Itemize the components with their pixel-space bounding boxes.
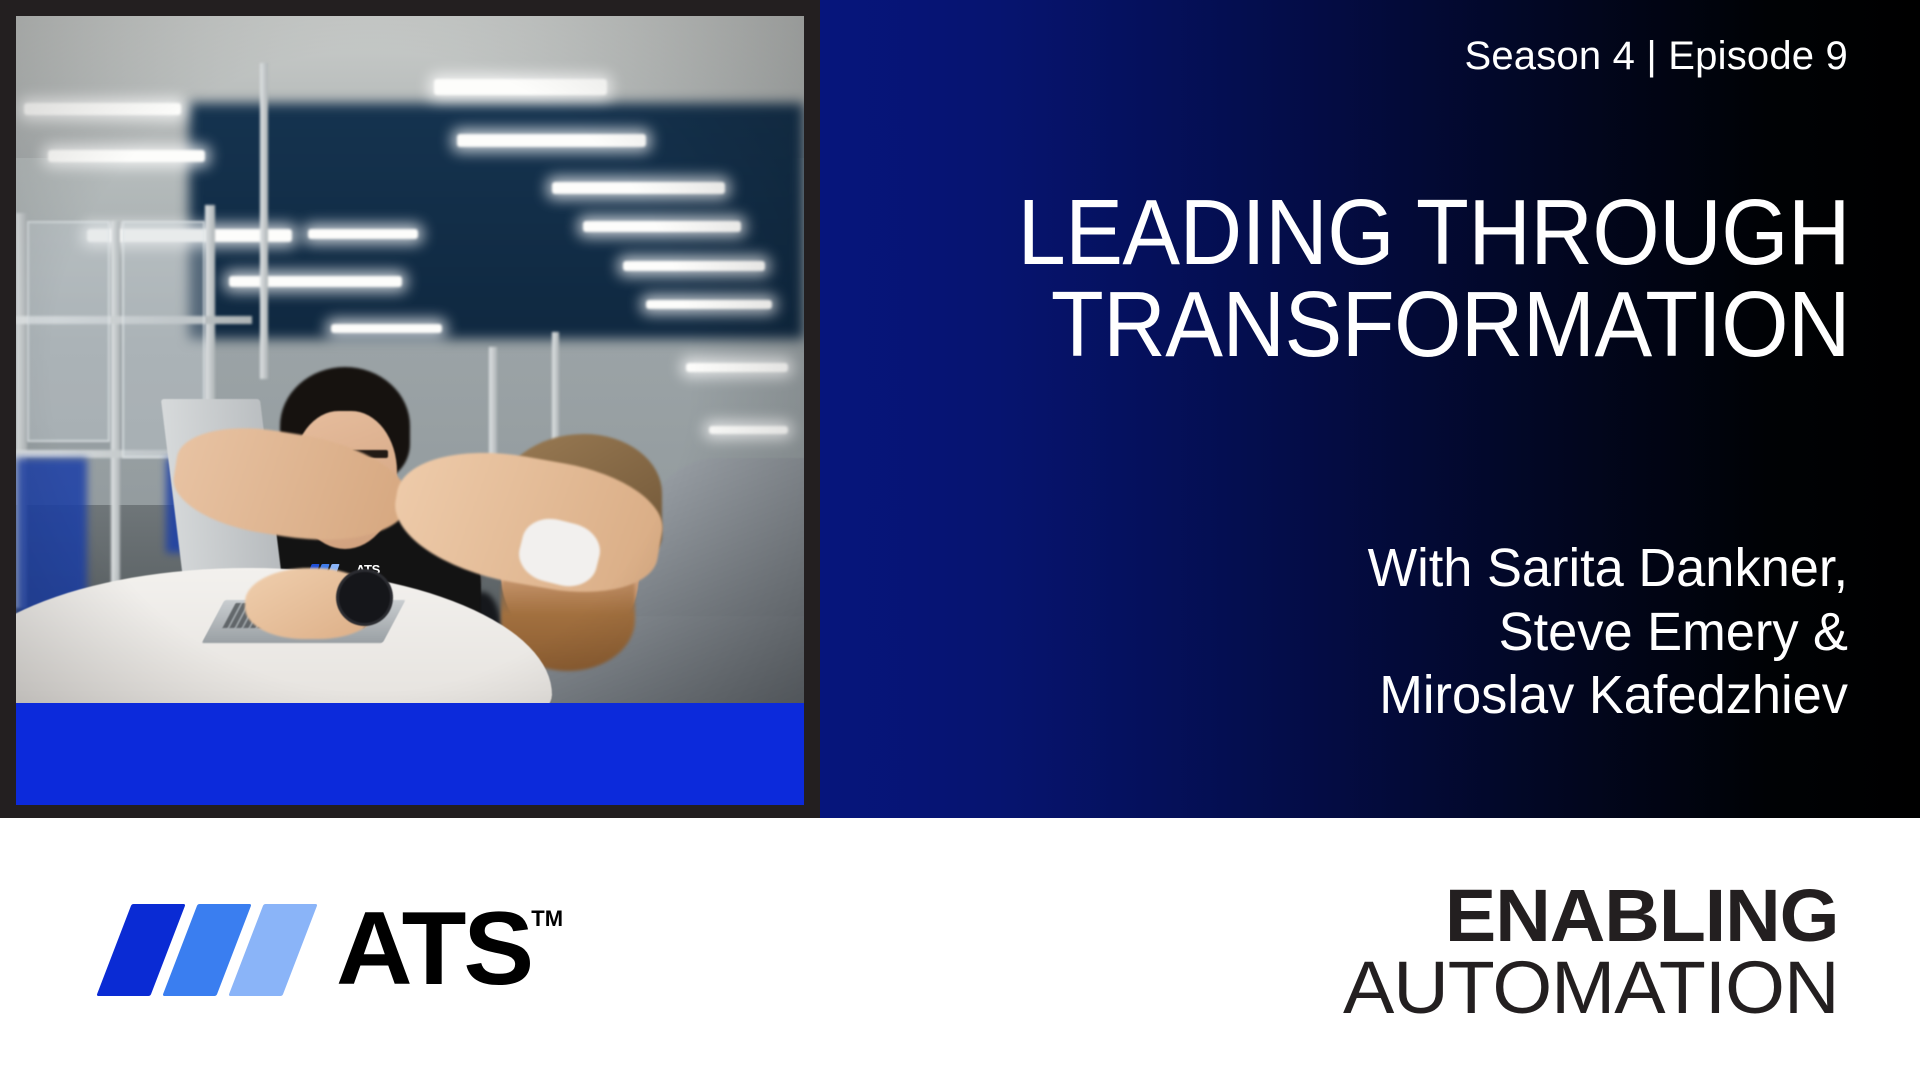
- episode-label: Season 4 | Episode 9: [1464, 34, 1848, 79]
- footer-bar: ATS TM ENABLING AUTOMATION: [0, 818, 1920, 1080]
- title-line-1: LEADING THROUGH: [920, 186, 1850, 278]
- photo-frame: ATS OPERATING SYSTEM: [0, 0, 820, 818]
- hosts-line-3: Miroslav Kafedzhiev: [975, 664, 1848, 728]
- program-logo-line-1: ENABLING: [1342, 880, 1838, 952]
- photo-vignette: [16, 16, 804, 805]
- photo-scene: ATS OPERATING SYSTEM: [16, 16, 804, 805]
- podcast-title-card: ATS OPERATING SYSTEM: [0, 0, 1920, 1080]
- hosts-line-1: With Sarita Dankner,: [975, 537, 1848, 601]
- enabling-automation-logo: ENABLING AUTOMATION: [1362, 880, 1839, 1024]
- episode-title: LEADING THROUGH TRANSFORMATION: [850, 186, 1850, 370]
- accent-blue-bar: [16, 703, 804, 805]
- ats-wordmark: ATS: [336, 905, 531, 994]
- hosts-credit: With Sarita Dankner, Steve Emery & Miros…: [948, 537, 1848, 728]
- episode-photo: ATS OPERATING SYSTEM: [16, 16, 804, 805]
- title-line-2: TRANSFORMATION: [920, 278, 1850, 370]
- program-logo-line-2: AUTOMATION: [1342, 952, 1838, 1024]
- hosts-line-2: Steve Emery &: [975, 601, 1848, 665]
- top-band: ATS OPERATING SYSTEM: [0, 0, 1920, 818]
- ats-logo: ATS TM: [100, 902, 563, 998]
- title-panel: Season 4 | Episode 9 LEADING THROUGH TRA…: [820, 0, 1920, 818]
- ats-logo-slashes: [100, 904, 332, 996]
- trademark-icon: TM: [531, 906, 563, 932]
